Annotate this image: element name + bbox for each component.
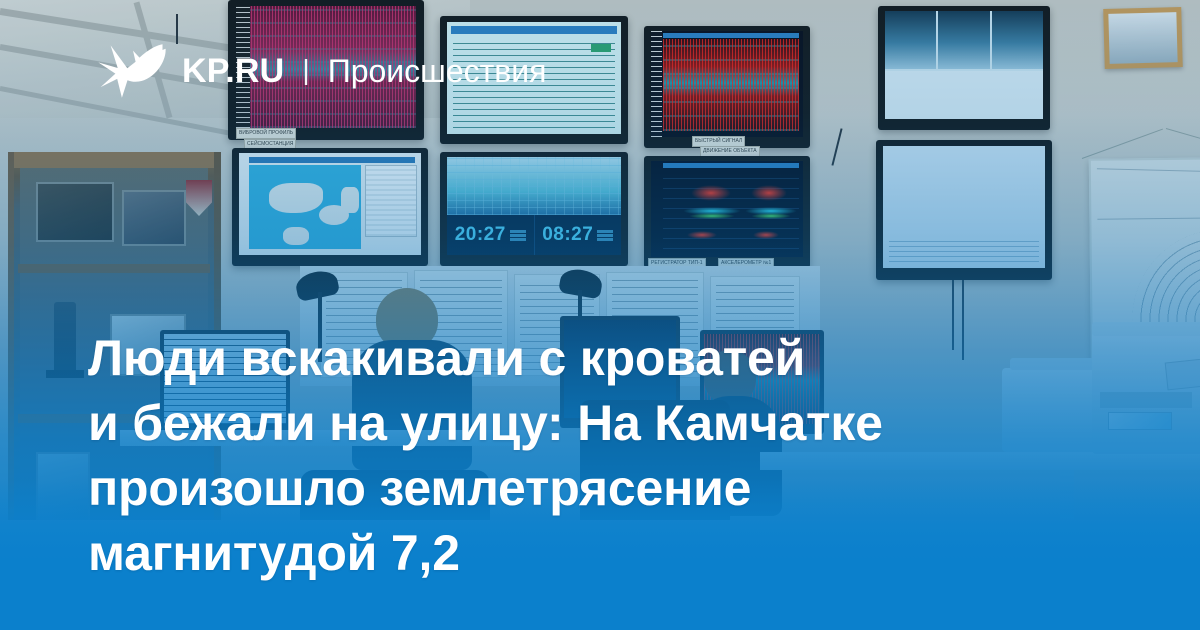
brand-section[interactable]: Происшествия [328,55,547,87]
brand-text: KP.RU | Происшествия [182,54,546,88]
social-share-card: ❄ ВИБРОВОЙ ПРОФИЛЬ СЕЙСМОСТАНЦИЯ [0,0,1200,630]
brand-separator: | [302,56,309,84]
headline-line: магнитудой 7,2 [88,521,1088,586]
headline-line: и бежали на улицу: На Камчатке [88,391,1088,456]
brand-name[interactable]: KP.RU [182,54,284,88]
headline-line: произошло землетрясение [88,456,1088,521]
brand-header: KP.RU | Происшествия [92,38,546,104]
headline: Люди вскакивали с кроватей и бежали на у… [88,326,1088,586]
swallow-bird-logo-icon[interactable] [92,38,166,104]
headline-line: Люди вскакивали с кроватей [88,326,1088,391]
